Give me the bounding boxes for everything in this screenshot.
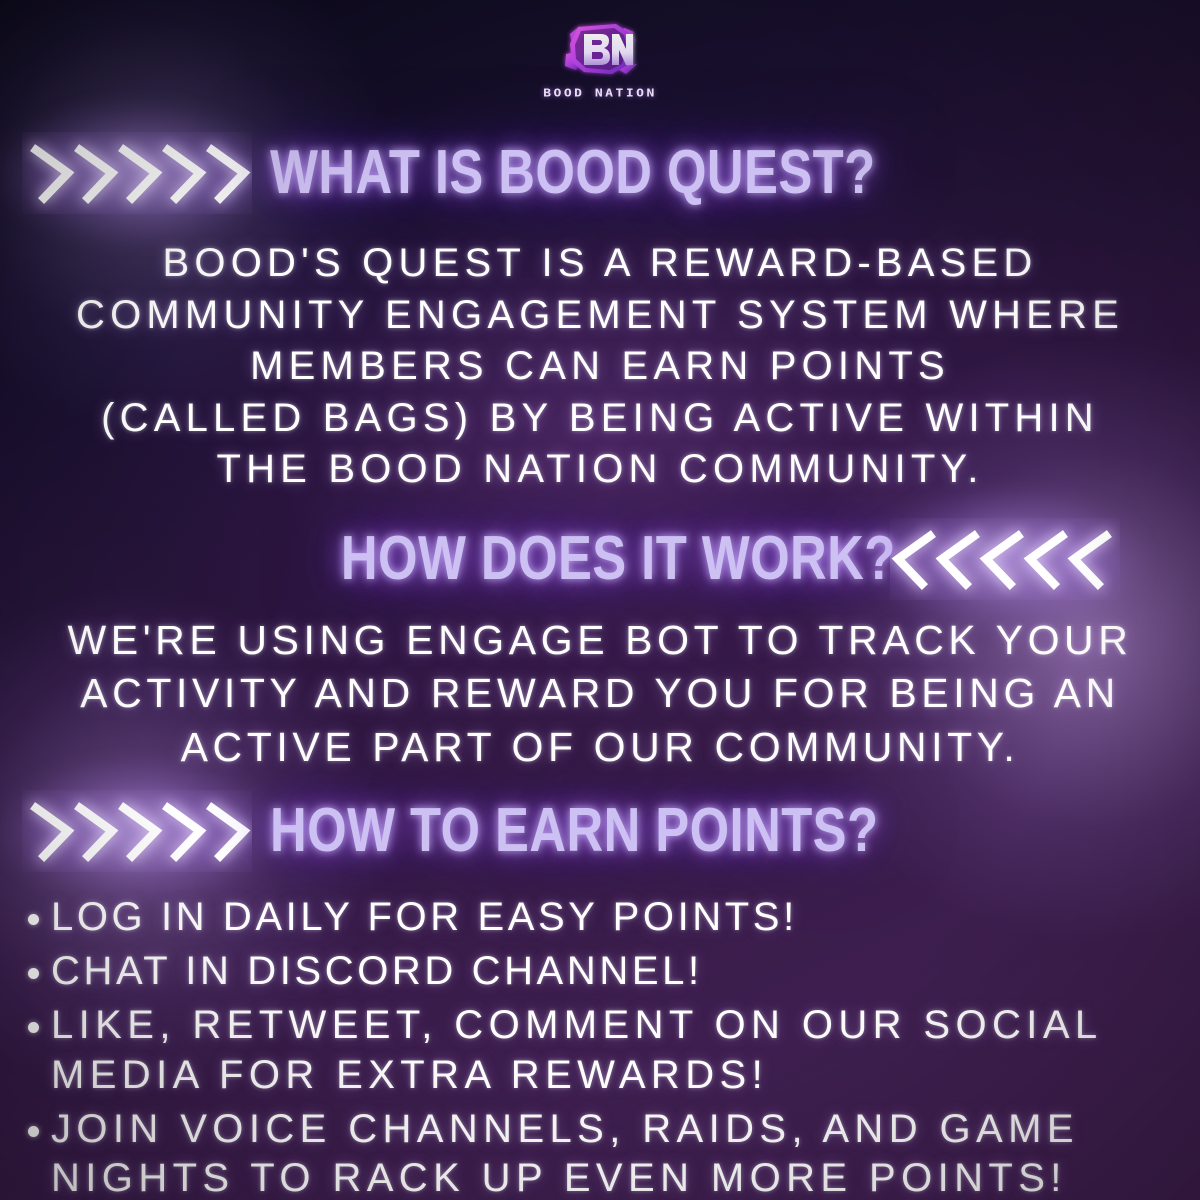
chevron-group-right-1 [22,132,252,214]
chevron-left-icon [890,518,1120,600]
earn-points-list: LOG IN DAILY FOR EASY POINTS! CHAT IN DI… [28,893,1200,1200]
section-3-heading: HOW TO EARN POINTS? [270,800,878,862]
chevron-group-right-2 [22,790,252,872]
list-item-label: JOIN VOICE CHANNELS, RAIDS, AND GAME NIG… [51,1105,1079,1200]
list-item-label: LOG IN DAILY FOR EASY POINTS! [51,893,798,942]
section-1-body: BOOD'S QUEST IS A REWARD-BASED COMMUNITY… [0,238,1200,496]
section-2-body: WE'RE USING ENGAGE BOT TO TRACK YOUR ACT… [0,614,1200,774]
chevron-group-left-1 [890,518,1120,600]
section-how-to-earn-points: HOW TO EARN POINTS? [0,790,1200,872]
list-item-label: LIKE, RETWEET, COMMENT ON OUR SOCIAL MED… [51,1001,1103,1099]
list-item: JOIN VOICE CHANNELS, RAIDS, AND GAME NIG… [28,1105,1200,1200]
section-3-heading-row: HOW TO EARN POINTS? [0,790,1200,872]
chevron-right-icon [22,132,252,214]
brand-logo: BOOD NATION [0,14,1200,101]
brand-wordmark: BOOD NATION [543,87,657,99]
section-1-heading-row: WHAT IS BOOD QUEST? [0,132,1200,214]
section-what-is-bood-quest: WHAT IS BOOD QUEST? [0,132,1200,214]
bullet-dot-icon [28,914,39,925]
poster-canvas: BOOD NATION WHAT IS BOOD QUEST? BOOD'S Q… [0,0,1200,1200]
section-2-heading-row: HOW DOES IT WORK? [0,518,1200,600]
section-how-does-it-work: HOW DOES IT WORK? [0,518,1200,600]
bn-logo-mark [554,14,646,84]
list-item: LOG IN DAILY FOR EASY POINTS! [28,893,1200,942]
list-item: CHAT IN DISCORD CHANNEL! [28,947,1200,996]
list-item: LIKE, RETWEET, COMMENT ON OUR SOCIAL MED… [28,1001,1200,1099]
chevron-right-icon [22,790,252,872]
section-1-heading: WHAT IS BOOD QUEST? [270,142,876,204]
section-2-heading: HOW DOES IT WORK? [341,528,896,590]
bullet-dot-icon [28,1126,39,1137]
bullet-dot-icon [28,1022,39,1033]
list-item-label: CHAT IN DISCORD CHANNEL! [51,947,703,996]
bullet-dot-icon [28,968,39,979]
